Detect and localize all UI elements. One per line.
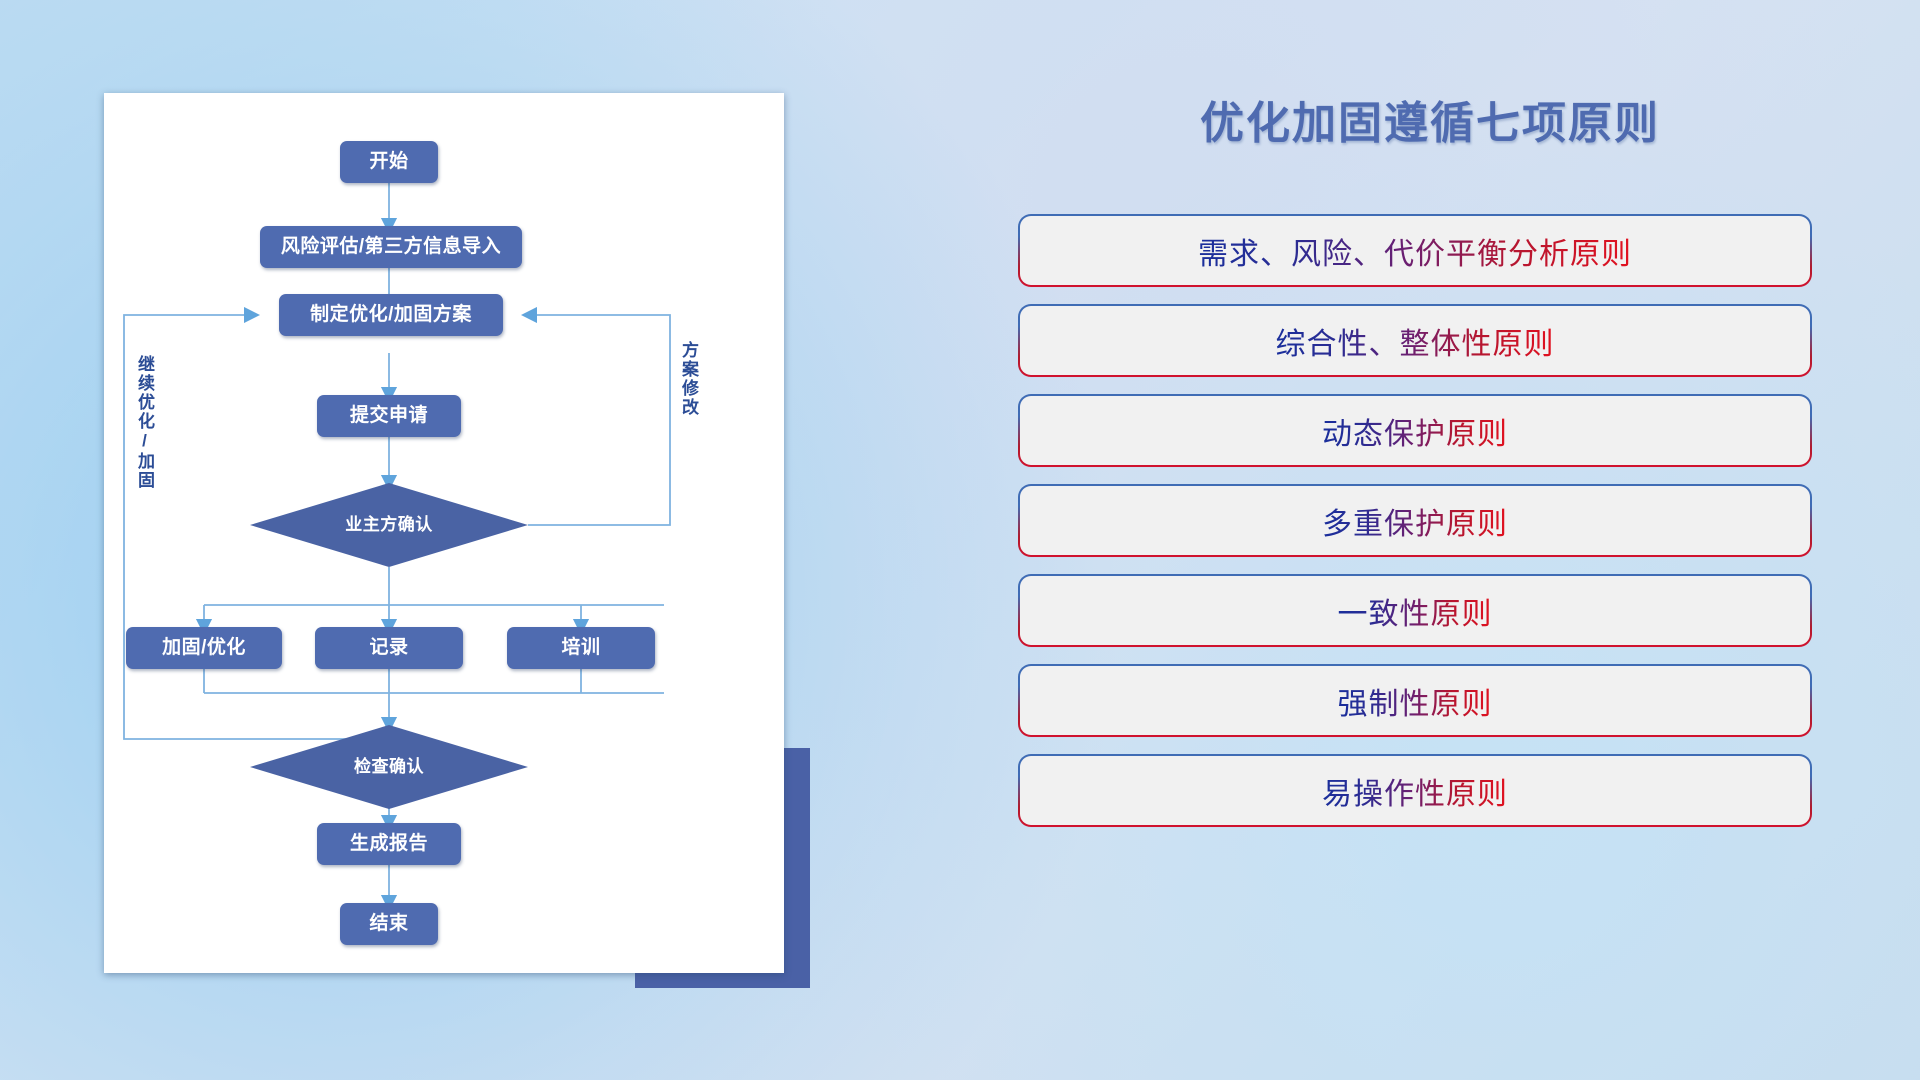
flow-node-check-confirm[interactable]: 检查确认 xyxy=(250,725,528,809)
principle-card-label: 多重保护原则 xyxy=(1322,499,1508,543)
flow-node-make-plan-label: 制定优化/加固方案 xyxy=(310,305,472,326)
flow-node-record[interactable]: 记录 xyxy=(315,627,463,669)
principle-card[interactable]: 一致性原则 xyxy=(1020,576,1810,645)
principle-card[interactable]: 强制性原则 xyxy=(1020,666,1810,735)
flow-node-record-label: 记录 xyxy=(369,638,408,659)
principle-card[interactable]: 需求、风险、代价平衡分析原则 xyxy=(1020,216,1810,285)
principle-card[interactable]: 动态保护原则 xyxy=(1020,396,1810,465)
flow-node-risk-assessment-label: 风险评估/第三方信息导入 xyxy=(281,237,501,258)
principle-card-label: 强制性原则 xyxy=(1338,679,1493,723)
flow-node-make-plan[interactable]: 制定优化/加固方案 xyxy=(279,294,503,336)
principle-card[interactable]: 综合性、整体性原则 xyxy=(1020,306,1810,375)
flow-node-generate-report-label: 生成报告 xyxy=(350,834,428,855)
flow-node-end[interactable]: 结束 xyxy=(340,903,438,945)
flow-node-start[interactable]: 开始 xyxy=(340,141,438,183)
flow-node-check-confirm-label: 检查确认 xyxy=(354,758,424,777)
flow-node-submit-application-label: 提交申请 xyxy=(350,406,428,427)
principle-card-label: 一致性原则 xyxy=(1338,589,1493,633)
page-title: 优化加固遵循七项原则 xyxy=(1020,92,1840,148)
slide-root: 开始 风险评估/第三方信息导入 制定优化/加固方案 提交申请 业主方确认 加固/… xyxy=(0,0,1920,1080)
flowchart-panel: 开始 风险评估/第三方信息导入 制定优化/加固方案 提交申请 业主方确认 加固/… xyxy=(104,93,784,973)
flow-node-generate-report[interactable]: 生成报告 xyxy=(317,823,461,865)
principle-card-label: 动态保护原则 xyxy=(1322,409,1508,453)
flow-node-training[interactable]: 培训 xyxy=(507,627,655,669)
flow-edge-label-right-loop: 方案修改 xyxy=(680,341,697,417)
principle-card-label: 综合性、整体性原则 xyxy=(1276,319,1555,363)
flow-node-reinforce-optimize[interactable]: 加固/优化 xyxy=(126,627,282,669)
flow-node-owner-confirm-label: 业主方确认 xyxy=(345,516,433,535)
flow-edge-label-left-loop: 继续优化/加固 xyxy=(136,355,153,490)
flow-node-start-label: 开始 xyxy=(369,152,408,173)
flow-node-end-label: 结束 xyxy=(369,914,408,935)
principle-card[interactable]: 易操作性原则 xyxy=(1020,756,1810,825)
principle-card-label: 易操作性原则 xyxy=(1322,769,1508,813)
principles-panel: 优化加固遵循七项原则 需求、风险、代价平衡分析原则 综合性、整体性原则 动态保护… xyxy=(1020,92,1840,1002)
principle-card-label: 需求、风险、代价平衡分析原则 xyxy=(1198,229,1632,273)
flow-node-training-label: 培训 xyxy=(561,638,600,659)
flow-node-risk-assessment[interactable]: 风险评估/第三方信息导入 xyxy=(260,226,522,268)
flow-node-owner-confirm[interactable]: 业主方确认 xyxy=(250,483,528,567)
principles-list: 需求、风险、代价平衡分析原则 综合性、整体性原则 动态保护原则 多重保护原则 一… xyxy=(1020,216,1810,825)
flow-node-submit-application[interactable]: 提交申请 xyxy=(317,395,461,437)
principle-card[interactable]: 多重保护原则 xyxy=(1020,486,1810,555)
flow-node-reinforce-optimize-label: 加固/优化 xyxy=(162,638,246,659)
